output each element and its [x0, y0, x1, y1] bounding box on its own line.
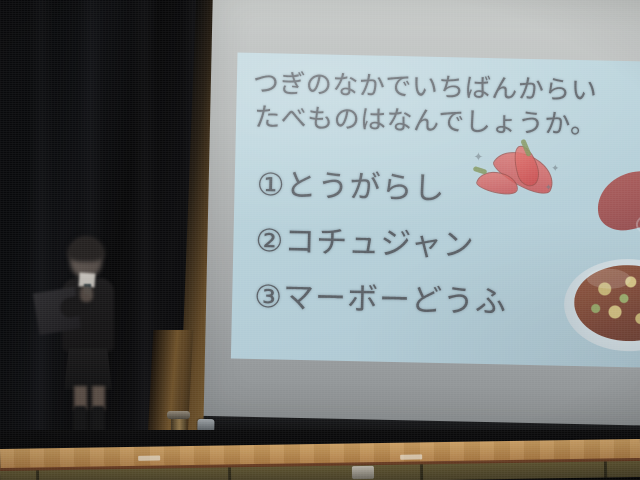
student-presenter	[52, 240, 128, 448]
projection-screen: つぎのなかでいちばんからい たべものはなんでしょうか。 ①とうがらし ②コチュジ…	[204, 0, 640, 428]
stage-label-mark	[400, 454, 422, 459]
presentation-photo-scene: つぎのなかでいちばんからい たべものはなんでしょうか。 ①とうがらし ②コチュジ…	[0, 0, 640, 480]
slide-option-3-label: マーボーどうふ	[283, 280, 508, 321]
projected-slide: つぎのなかでいちばんからい たべものはなんでしょうか。 ①とうがらし ②コチュジ…	[231, 53, 640, 369]
slide-heading-line1: つぎのなかでいちばんからい	[253, 69, 598, 107]
sparkle-icon: ✦	[551, 163, 560, 174]
slide-heading: つぎのなかでいちばんからい たべものはなんでしょうか。	[252, 67, 640, 145]
sparkle-icon: ✦	[473, 150, 483, 164]
chili-stem	[473, 166, 488, 175]
stage-label-mark	[138, 455, 160, 460]
panel-seam	[36, 470, 39, 480]
slide-option-2-marker: ②	[255, 223, 285, 260]
panel-seam	[604, 461, 607, 477]
slide-option-2-label: コチュジャン	[284, 224, 475, 264]
presenter-hand	[80, 286, 93, 302]
presenter-hair	[67, 236, 105, 262]
slide-heading-line2: たべものはなんでしょうか。	[254, 101, 640, 145]
panel-seam	[228, 467, 231, 480]
slide-option-1-marker: ①	[256, 167, 286, 204]
curtain-fold	[28, 0, 54, 452]
sparkle-icon: ✦	[545, 183, 553, 193]
floor-post-cap	[167, 411, 190, 419]
gochujang-sauce-shape	[592, 164, 640, 235]
slide-option-1-label: とうがらし	[285, 168, 446, 207]
gochujang-photo	[589, 164, 640, 258]
stage-latch-hardware	[352, 466, 374, 479]
chili-peppers-icon: ✦ ✦ ✦	[470, 138, 592, 227]
slide-option-3-marker: ③	[254, 279, 284, 316]
presenter-skirt	[64, 348, 112, 390]
mapo-tofu-photo	[563, 246, 640, 365]
panel-seam	[420, 464, 423, 480]
